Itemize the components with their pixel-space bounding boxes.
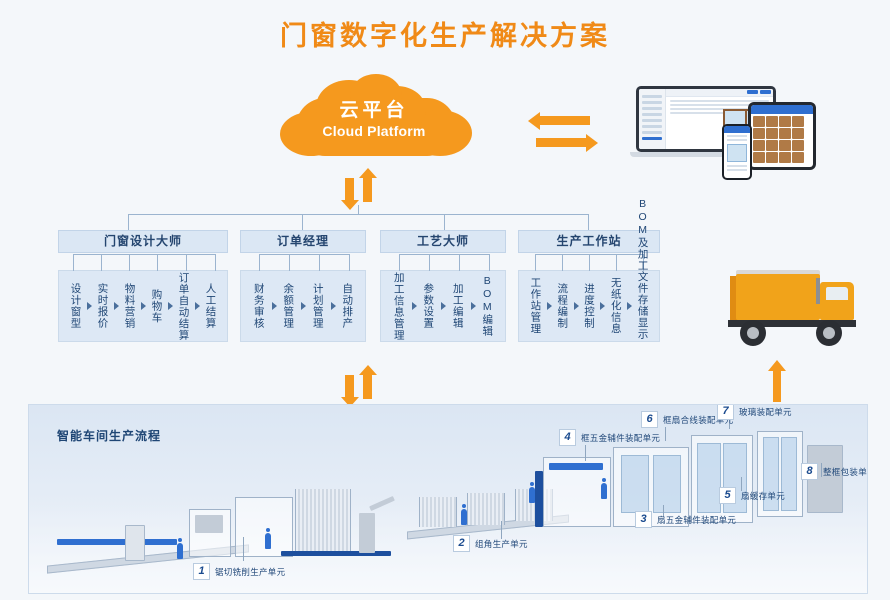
workshop-title: 智能车间生产流程 xyxy=(57,427,161,444)
step-label: BOM编辑 xyxy=(481,275,493,337)
tablet-device xyxy=(748,102,816,170)
phone-device xyxy=(722,124,752,180)
step-label: 加工编辑 xyxy=(452,283,464,329)
workshop-unit-callout[interactable]: 3 扇五金辅件装配单元 xyxy=(635,511,736,528)
saw-line-rail xyxy=(57,539,177,545)
module-step[interactable]: 工作站管理 xyxy=(522,271,549,341)
unit-number: 3 xyxy=(635,511,652,528)
module-step[interactable]: 余额管理 xyxy=(274,271,304,341)
unit-header-bar xyxy=(549,463,603,470)
cloud-platform: 云平台 Cloud Platform xyxy=(268,78,480,160)
module-step[interactable]: 自动排产 xyxy=(333,271,363,341)
module-step-connectors xyxy=(381,254,505,271)
module-step[interactable]: 文件存储显示 BOM及加工 xyxy=(629,271,656,341)
step-label: 计划管理 xyxy=(312,283,324,329)
step-label: 流程编制 xyxy=(556,283,568,329)
module-steps: 财务审核 余额管理 计划管理 自动排产 xyxy=(240,270,366,342)
unit-label: 玻璃装配单元 xyxy=(739,406,792,418)
step-label: 订单自动结算 xyxy=(178,272,190,340)
arrow-modules-to-workshop-icon xyxy=(342,367,376,407)
module-step[interactable]: 人工结算 xyxy=(197,271,224,341)
arrow-workshop-to-truck-icon xyxy=(768,360,786,402)
delivery-truck xyxy=(712,266,864,352)
arrow-right-shaft xyxy=(536,138,590,147)
unit-number: 6 xyxy=(641,411,658,428)
module-craft-master[interactable]: 工艺大师 加工信息管理 参数设置 加工编辑 BOM编辑 xyxy=(380,230,506,342)
robot-arm-base xyxy=(359,513,375,553)
assembly-rack xyxy=(419,497,457,527)
client-devices-group xyxy=(630,86,840,170)
module-production-workstation[interactable]: 生产工作站 工作站管理 流程编制 进度控制 无纸化信息 文件存储显示 BOM及加… xyxy=(518,230,660,342)
arrow-right-head-icon xyxy=(586,134,598,152)
machine-panel xyxy=(195,515,223,533)
assembly-rack xyxy=(467,493,505,525)
module-step[interactable]: 进度控制 xyxy=(576,271,603,341)
module-step[interactable]: 实时报价 xyxy=(89,271,116,341)
machine-saw xyxy=(125,525,145,561)
module-step-connectors xyxy=(241,254,365,271)
module-step[interactable]: 订单自动结算 xyxy=(170,271,197,341)
module-step[interactable]: 无纸化信息 xyxy=(602,271,629,341)
module-step[interactable]: 加工信息管理 xyxy=(384,271,414,341)
step-label: 人工结算 xyxy=(205,283,217,329)
step-label: 自动排产 xyxy=(341,283,353,329)
callout-leader xyxy=(243,537,244,561)
unit-label: 组角生产单元 xyxy=(475,538,528,550)
module-step[interactable]: 加工编辑 xyxy=(443,271,473,341)
module-title: 工艺大师 xyxy=(380,230,506,253)
worker-figure xyxy=(529,487,535,503)
step-label-line-1: 文件存储显示 xyxy=(637,271,649,340)
workshop-unit-callout[interactable]: 2 组角生产单元 xyxy=(453,535,528,552)
infographic-root: 门窗数字化生产解决方案 云平台 Cloud Platform xyxy=(0,0,890,600)
unit-number: 8 xyxy=(801,463,818,480)
unit-number: 5 xyxy=(719,487,736,504)
module-title: 门窗设计大师 xyxy=(58,230,228,253)
arrow-cloud-to-modules-icon xyxy=(342,170,376,210)
laptop-sidebar xyxy=(639,89,666,149)
workshop-panel: 智能车间生产流程 xyxy=(28,404,868,594)
module-step[interactable]: 参数设置 xyxy=(414,271,444,341)
module-step[interactable]: 购物车 xyxy=(143,271,170,341)
step-label: 物料营销 xyxy=(124,283,136,329)
workshop-unit-callout[interactable]: 5 扇缓存单元 xyxy=(719,487,785,504)
unit-label: 扇缓存单元 xyxy=(741,490,785,502)
module-step[interactable]: BOM编辑 xyxy=(473,271,503,341)
step-label: 财务审核 xyxy=(253,283,265,329)
unit-label: 整框包装单元 xyxy=(823,466,868,478)
cloud-label-en: Cloud Platform xyxy=(268,122,480,141)
step-label: 购物车 xyxy=(151,289,163,324)
step-label: 无纸化信息 xyxy=(610,277,622,335)
step-label: 设计窗型 xyxy=(70,283,82,329)
unit-label: 扇五金辅件装配单元 xyxy=(657,514,736,526)
module-title: 订单经理 xyxy=(240,230,366,253)
cloud-device-exchange-arrows-icon xyxy=(528,112,598,154)
module-step-connectors xyxy=(59,254,227,271)
unit-number: 7 xyxy=(717,404,734,420)
step-label-line-2: BOM及加工 xyxy=(637,198,649,272)
worker-figure xyxy=(177,543,183,559)
unit-number: 4 xyxy=(559,429,576,446)
module-step[interactable]: 流程编制 xyxy=(549,271,576,341)
workshop-unit-callout[interactable]: 7 玻璃装配单元 xyxy=(717,404,792,420)
callout-leader xyxy=(585,445,586,461)
module-step[interactable]: 物料营销 xyxy=(116,271,143,341)
page-title: 门窗数字化生产解决方案 xyxy=(0,14,890,53)
module-step[interactable]: 财务审核 xyxy=(244,271,274,341)
module-steps: 加工信息管理 参数设置 加工编辑 BOM编辑 xyxy=(380,270,506,342)
glass-panel xyxy=(653,455,681,513)
station-post xyxy=(535,471,543,527)
cloud-label-cn: 云平台 xyxy=(268,100,480,122)
module-step[interactable]: 计划管理 xyxy=(303,271,333,341)
callout-leader xyxy=(665,427,666,441)
material-rack xyxy=(295,489,351,553)
unit-label: 锯切铣削生产单元 xyxy=(215,566,285,578)
unit-number: 1 xyxy=(193,563,210,580)
cloud-label-group: 云平台 Cloud Platform xyxy=(268,100,480,141)
glass-panel xyxy=(697,443,721,513)
unit-number: 2 xyxy=(453,535,470,552)
unit-label: 框五金辅件装配单元 xyxy=(581,432,660,444)
step-label: 加工信息管理 xyxy=(393,272,405,340)
glass-panel xyxy=(621,455,649,513)
step-label: 余额管理 xyxy=(282,283,294,329)
module-design-master[interactable]: 门窗设计大师 设计窗型 实时报价 物料营销 购物车 订单自动结算 人工结算 xyxy=(58,230,228,342)
worker-figure xyxy=(461,509,467,525)
arrow-left-shaft xyxy=(536,116,590,125)
module-steps: 设计窗型 实时报价 物料营销 购物车 订单自动结算 人工结算 xyxy=(58,270,228,342)
step-label-multiline: 文件存储显示 BOM及加工 xyxy=(637,272,649,340)
workshop-unit-callout[interactable]: 4 框五金辅件装配单元 xyxy=(559,429,660,446)
step-label: 参数设置 xyxy=(422,283,434,329)
step-label: 进度控制 xyxy=(583,283,595,329)
module-order-manager[interactable]: 订单经理 财务审核 余额管理 计划管理 自动排产 xyxy=(240,230,366,342)
workshop-unit-callout[interactable]: 8 整框包装单元 xyxy=(801,463,868,480)
step-label: 工作站管理 xyxy=(529,277,541,335)
module-step[interactable]: 设计窗型 xyxy=(62,271,89,341)
workshop-unit-callout[interactable]: 1 锯切铣削生产单元 xyxy=(193,563,285,580)
module-steps: 工作站管理 流程编制 进度控制 无纸化信息 文件存储显示 BOM及加工 xyxy=(518,270,660,342)
worker-figure xyxy=(265,533,271,549)
worker-figure xyxy=(601,483,607,499)
step-label: 实时报价 xyxy=(97,283,109,329)
